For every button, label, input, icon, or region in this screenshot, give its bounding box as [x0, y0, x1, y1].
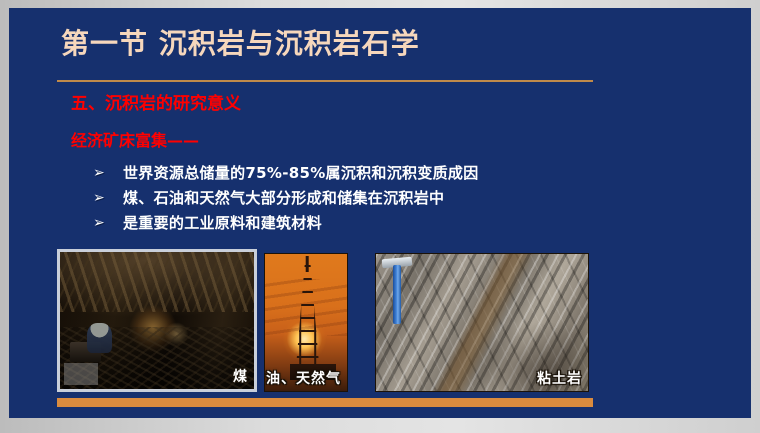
coal-mine-artwork: [60, 252, 254, 389]
slide-canvas: 第一节 沉积岩与沉积岩石学 五、沉积岩的研究意义 经济矿床富集—— ➢ 世界资源…: [9, 8, 751, 418]
list-item-label: 世界资源总储量的75%-85%属沉积和沉积变质成因: [123, 161, 479, 186]
photo-caption-clay-rock: 粘土岩: [537, 368, 582, 388]
oil-rig-sunset-photo: 石油、天然气: [264, 253, 348, 392]
hammer-head-shape: [382, 257, 413, 269]
slide-title: 第一节 沉积岩与沉积岩石学: [61, 25, 420, 63]
clay-rock-outcrop-photo: 粘土岩: [375, 253, 589, 392]
cloud-band-shape: [265, 279, 347, 337]
drilling-derrick-shape: [295, 265, 320, 375]
bullet-list: ➢ 世界资源总储量的75%-85%属沉积和沉积变质成因 ➢ 煤、石油和天然气大部…: [93, 161, 693, 236]
mine-cart-shape: [70, 342, 101, 361]
slide-frame: 第一节 沉积岩与沉积岩石学 五、沉积岩的研究意义 经济矿床富集—— ➢ 世界资源…: [0, 0, 760, 433]
clay-rock-artwork: [376, 254, 588, 391]
section-heading: 五、沉积岩的研究意义: [71, 92, 241, 116]
list-item: ➢ 是重要的工业原料和建筑材料: [93, 211, 693, 236]
coal-mine-photo: 煤: [57, 249, 257, 392]
rig-base-shape: [290, 364, 336, 380]
photo-caption-oil-gas: 石油、天然气: [264, 368, 341, 388]
list-item: ➢ 煤、石油和天然气大部分形成和储集在沉积岩中: [93, 186, 693, 211]
miner-figure-shape: [87, 323, 112, 353]
geological-hammer-icon: [382, 258, 412, 324]
list-item: ➢ 世界资源总储量的75%-85%属沉积和沉积变质成因: [93, 161, 693, 186]
photo-caption-coal: 煤: [233, 366, 248, 386]
title-divider-rule: [57, 80, 593, 82]
list-item-label: 煤、石油和天然气大部分形成和储集在沉积岩中: [123, 186, 444, 211]
arrow-bullet-icon: ➢: [93, 211, 123, 236]
sub-heading: 经济矿床富集——: [71, 130, 199, 152]
sunset-sky-artwork: [265, 254, 347, 391]
hammer-handle-shape: [393, 265, 401, 324]
list-item-label: 是重要的工业原料和建筑材料: [123, 211, 322, 236]
photo-corner-swatch: [64, 363, 98, 385]
arrow-bullet-icon: ➢: [93, 161, 123, 186]
bottom-accent-bar: [57, 398, 593, 407]
arrow-bullet-icon: ➢: [93, 186, 123, 211]
